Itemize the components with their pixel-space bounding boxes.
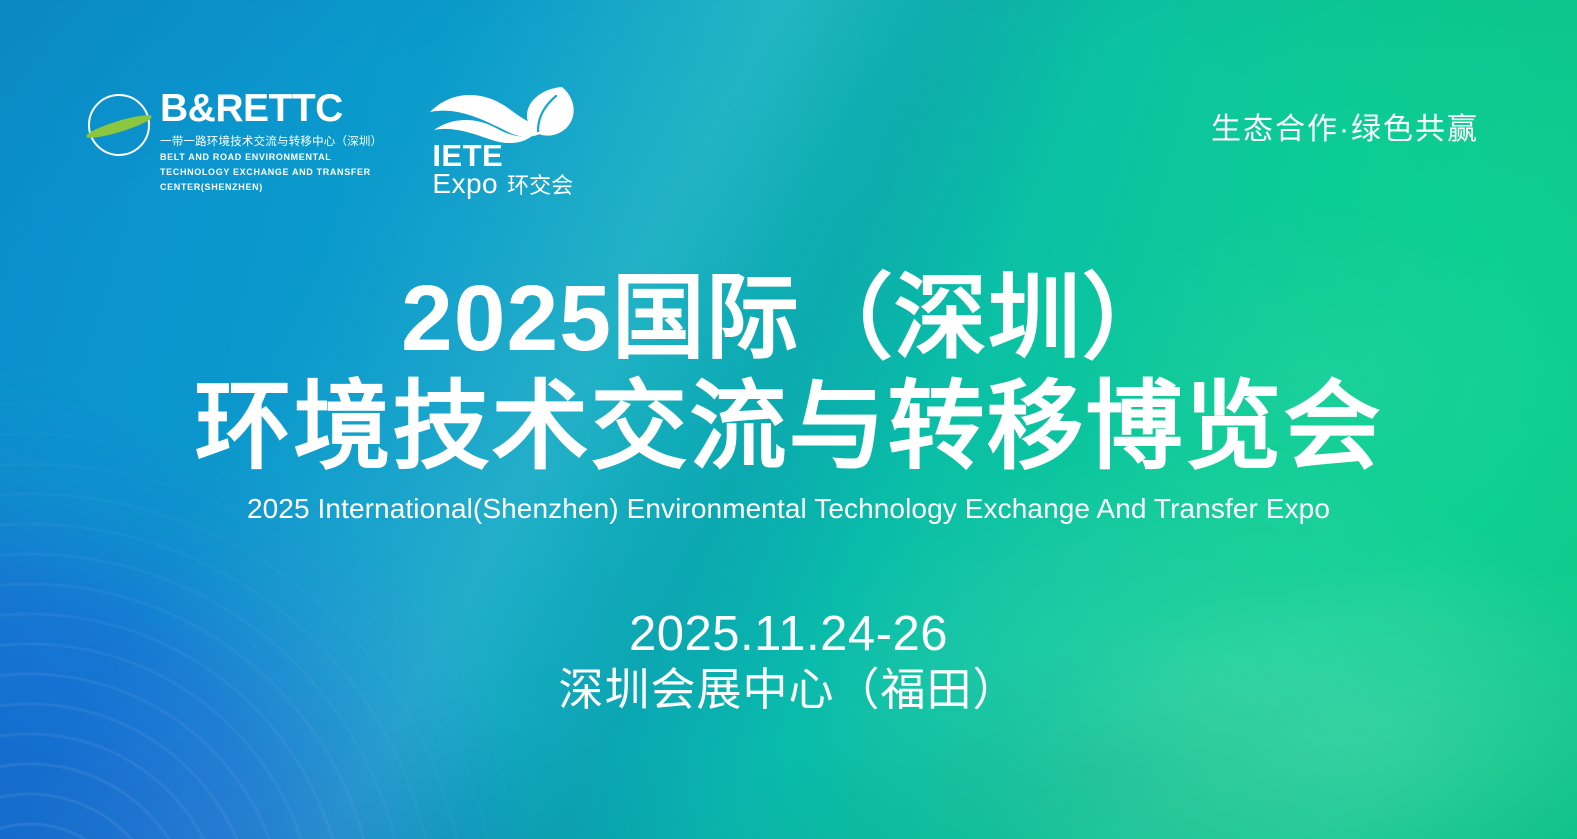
event-date: 2025.11.24-26	[0, 607, 1577, 662]
event-title-line-1: 2025国际（深圳）	[0, 272, 1577, 365]
event-venue: 深圳会展中心（福田）	[0, 665, 1577, 715]
event-title-line-2: 环境技术交流与转移博览会	[0, 378, 1577, 475]
event-subtitle-english: 2025 International(Shenzhen) Environment…	[0, 492, 1577, 526]
banner-main-content: 2025国际（深圳） 环境技术交流与转移博览会 2025 Internation…	[0, 0, 1577, 839]
event-banner: B&RETTC 一带一路环境技术交流与转移中心（深圳） BELT AND ROA…	[0, 0, 1577, 839]
